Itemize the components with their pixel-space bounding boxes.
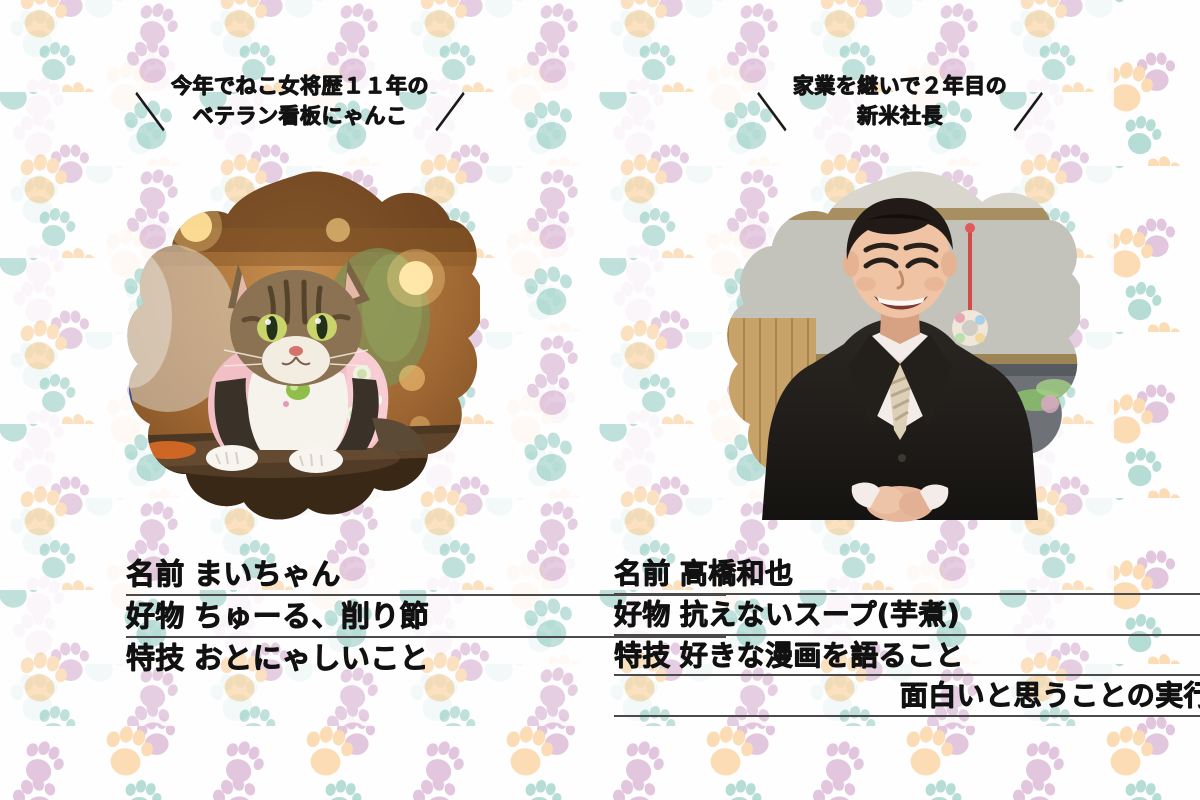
slash-left-icon: ＼ — [757, 94, 787, 137]
fact-value: まいちゃん — [194, 556, 341, 593]
fact-value: 好きな漫画を語ること — [680, 638, 964, 674]
fact-row: 面白いと思うことの実行 — [614, 678, 1200, 717]
fact-label: 好物 — [126, 598, 185, 635]
fact-label: 名前 — [614, 556, 671, 592]
fact-value: 面白いと思うことの実行 — [900, 678, 1200, 714]
photo-president — [720, 168, 1080, 528]
profile-card-canvas: ＼ 今年でねこ女将歴１１年の ベテラン看板にゃんこ ／ — [0, 0, 1200, 800]
photo-cat — [120, 168, 480, 528]
fact-label: 特技 — [126, 640, 185, 677]
fact-value: 抗えないスープ(芋煮) — [680, 597, 960, 633]
cat-photo-content — [92, 168, 480, 528]
fact-value: おとにゃしいこと — [194, 640, 429, 677]
fact-value: ちゅーる、削り節 — [194, 598, 429, 635]
fact-label: 名前 — [126, 556, 185, 593]
fact-value: 高橋和也 — [680, 556, 794, 592]
profile-column-cat: ＼ 今年でねこ女将歴１１年の ベテラン看板にゃんこ ／ — [0, 0, 600, 800]
profile-column-president: ＼ 家業を継いで２年目の 新米社長 ／ — [600, 0, 1200, 800]
fact-label: 好物 — [614, 597, 671, 633]
facts-president: 名前 高橋和也 好物 抗えないスープ(芋煮) 特技 好きな漫画を語ること 面白い… — [600, 556, 1200, 719]
heading-president-text: 家業を継いで２年目の 新米社長 — [793, 72, 1007, 132]
heading-cat: ＼ 今年でねこ女将歴１１年の ベテラン看板にゃんこ ／ — [0, 72, 600, 132]
fact-row: 好物 抗えないスープ(芋煮) — [614, 597, 1200, 636]
fact-row: 特技 好きな漫画を語ること — [614, 638, 1200, 677]
fact-label: 特技 — [614, 638, 671, 674]
heading-cat-text: 今年でねこ女将歴１１年の ベテラン看板にゃんこ — [171, 72, 429, 132]
slash-right-icon: ／ — [435, 94, 465, 137]
slash-left-icon: ＼ — [135, 94, 165, 137]
heading-president: ＼ 家業を継いで２年目の 新米社長 ／ — [600, 72, 1200, 132]
slash-right-icon: ／ — [1013, 94, 1043, 137]
fact-row: 名前 高橋和也 — [614, 556, 1200, 595]
